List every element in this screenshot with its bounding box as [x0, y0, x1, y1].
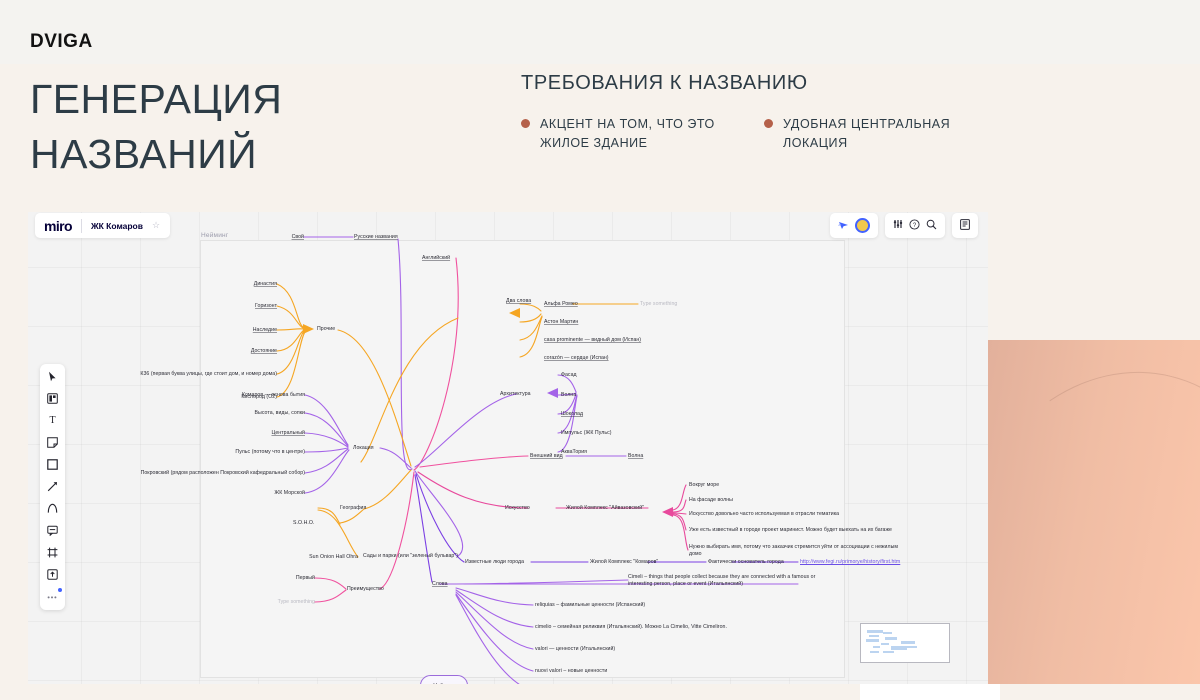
node-zhk-komarov[interactable]: Жилой Комплекс "Комаров"	[590, 559, 658, 566]
connector-tool-icon[interactable]	[44, 479, 61, 494]
node-pokrovsky[interactable]: Покровский (рядом расположен Покровский …	[141, 470, 305, 477]
filter-icon[interactable]	[893, 219, 903, 232]
node-need-name[interactable]: Нужно выбирать имя, потому что заказчик …	[689, 544, 899, 558]
node-exterior[interactable]: Внешний вид	[530, 453, 563, 460]
node-corazon[interactable]: corazón — сердце (Испан)	[544, 355, 609, 362]
select-tool-icon[interactable]	[44, 369, 61, 384]
node-horizon[interactable]: Горизонт	[255, 303, 277, 310]
node-facade-waves[interactable]: На фасаде волны	[689, 497, 733, 504]
cursor-icon[interactable]	[838, 221, 849, 230]
node-aquatoria[interactable]: АкваТория	[561, 449, 587, 456]
upload-tool-icon[interactable]	[44, 567, 61, 582]
help-icon[interactable]: ?	[909, 219, 920, 233]
pen-tool-icon[interactable]	[44, 501, 61, 516]
slide-root: DVIGA ГЕНЕРАЦИЯ НАЗВАНИЙ ТРЕБОВАНИЯ К НА…	[0, 0, 1200, 700]
miro-board-screenshot[interactable]: Нейминг	[28, 212, 988, 684]
node-k36[interactable]: К36 (первая буква улицы, где стоит дом, …	[140, 371, 277, 378]
brand-logo: DVIGA	[30, 31, 93, 53]
node-source-link[interactable]: http://www.fegi.ru/primorye/history/firs…	[800, 559, 900, 566]
node-vysota[interactable]: Высота, виды, сопки	[255, 410, 305, 417]
node-location[interactable]: Локация	[353, 445, 374, 452]
board-minimap[interactable]	[860, 623, 950, 663]
requirement-item-1: АКЦЕНТ НА ТОМ, ЧТО ЭТО ЖИЛОЕ ЗДАНИЕ	[521, 115, 736, 154]
requirements-title: ТРЕБОВАНИЯ К НАЗВАНИЮ	[521, 72, 1001, 95]
favorite-star-icon[interactable]: ☆	[152, 220, 160, 231]
node-wave[interactable]: Волна	[561, 392, 576, 399]
more-apps-tool-icon[interactable]	[44, 589, 61, 604]
node-founder[interactable]: Фактически основатель города	[708, 559, 784, 566]
node-cimeli[interactable]: Cimeli – things that people collect beca…	[628, 574, 828, 588]
node-words[interactable]: Слова	[432, 581, 448, 588]
requirements-block: ТРЕБОВАНИЯ К НАЗВАНИЮ АКЦЕНТ НА ТОМ, ЧТО…	[521, 72, 1001, 154]
node-zhk-morskoy[interactable]: ЖК Морской	[274, 490, 305, 497]
node-english[interactable]: Английский	[422, 255, 450, 262]
node-casa-prominente[interactable]: casa prominente — видный дом (Испан)	[544, 337, 641, 344]
node-sun-onion[interactable]: Sun Onion Hall Ohra	[309, 554, 358, 561]
mindmap-center-node[interactable]: Нейминг	[420, 675, 468, 684]
node-cimelio[interactable]: cimelio – семейная реликвия (Итальянский…	[535, 624, 727, 631]
node-soho[interactable]: S.O.H.O.	[293, 520, 314, 527]
page-title: ГЕНЕРАЦИЯ НАЗВАНИЙ	[30, 72, 282, 181]
node-geography[interactable]: География	[340, 505, 366, 512]
node-alfa-romeo[interactable]: Альфа Ромео	[544, 301, 578, 308]
board-title[interactable]: ЖК Комаров	[91, 221, 143, 231]
text-tool-icon[interactable]: T	[44, 413, 61, 428]
new-badge-dot	[58, 588, 62, 592]
node-around-sea[interactable]: Вокруг море	[689, 482, 719, 489]
node-known-marinist[interactable]: Уже есть известный в городе проект марин…	[689, 527, 892, 534]
requirement-item-2: УДОБНАЯ ЦЕНТРАЛЬНАЯ ЛОКАЦИЯ	[764, 115, 979, 154]
search-icon[interactable]	[926, 219, 937, 233]
node-placeholder-1[interactable]: Type something	[278, 599, 315, 606]
node-nuovi-valori[interactable]: nuovi valori – новые ценности	[535, 668, 607, 675]
miro-top-right-tools: ?	[830, 213, 978, 238]
node-reliquias[interactable]: reliquias – фамильные ценности (Испански…	[535, 602, 645, 609]
node-valori[interactable]: valori — ценности (Итальянский)	[535, 646, 615, 653]
bullet-icon	[521, 119, 530, 128]
miro-board-pill[interactable]: miro ЖК Комаров ☆	[35, 213, 170, 238]
node-two-words[interactable]: Два слова	[506, 298, 531, 305]
node-placeholder-2[interactable]: Type something	[640, 301, 677, 308]
bullet-icon	[764, 119, 773, 128]
sticky-note-tool-icon[interactable]	[44, 435, 61, 450]
user-avatar[interactable]	[855, 218, 870, 233]
utility-group: ?	[885, 213, 945, 238]
frame-tool-icon[interactable]	[44, 545, 61, 560]
node-first[interactable]: Первый	[296, 575, 315, 582]
node-impulse[interactable]: Импульс (ЖК Пульс)	[561, 430, 612, 437]
page-title-line-2: НАЗВАНИЙ	[30, 127, 282, 182]
page-title-line-1: ГЕНЕРАЦИЯ	[30, 72, 282, 127]
node-gardens[interactable]: Сады и парки (или "зеленый бульвар")	[363, 553, 458, 560]
miro-logo[interactable]: miro	[44, 218, 72, 234]
mindmap-center-label: Нейминг	[433, 683, 455, 685]
node-advantage[interactable]: Преимущество	[347, 586, 384, 593]
requirement-text-2: УДОБНАЯ ЦЕНТРАЛЬНАЯ ЛОКАЦИЯ	[783, 115, 979, 154]
mindmap-connectors	[28, 212, 988, 684]
node-dynasty[interactable]: Династия	[254, 281, 277, 288]
miro-top-bar: miro ЖК Комаров ☆ ?	[28, 212, 988, 242]
node-central[interactable]: Центральный	[271, 430, 305, 437]
node-art[interactable]: Искусство	[505, 505, 530, 512]
comment-tool-icon[interactable]	[44, 523, 61, 538]
node-chocolate[interactable]: Шоколад	[561, 411, 583, 418]
templates-tool-icon[interactable]	[44, 391, 61, 406]
node-wave-2[interactable]: Волна	[628, 453, 643, 460]
panel-group	[952, 213, 978, 238]
notes-panel-icon[interactable]	[960, 219, 970, 233]
node-heritage[interactable]: Наследие	[253, 327, 277, 334]
requirements-list: АКЦЕНТ НА ТОМ, ЧТО ЭТО ЖИЛОЕ ЗДАНИЕ УДОБ…	[521, 115, 1001, 154]
node-famous-people[interactable]: Известные люди города	[465, 559, 524, 566]
node-komarov-osnova[interactable]: Комаров — основа бытия	[242, 392, 305, 399]
node-other[interactable]: Прочие	[317, 326, 335, 333]
node-architecture[interactable]: Архитектура	[500, 391, 531, 398]
node-facade[interactable]: Фасад	[561, 372, 577, 379]
node-zhk-ayvazovsky[interactable]: Жилой Комплекс "Айвазовский"	[566, 505, 644, 512]
presence-group	[830, 213, 878, 238]
miro-left-toolbar[interactable]: T	[40, 364, 65, 610]
node-aston-martin[interactable]: Астон Мартин	[544, 319, 578, 326]
node-dostoyanie[interactable]: Достояние	[251, 348, 277, 355]
node-pulse[interactable]: Пульс (потому что в центре)	[235, 449, 305, 456]
requirement-text-1: АКЦЕНТ НА ТОМ, ЧТО ЭТО ЖИЛОЕ ЗДАНИЕ	[540, 115, 736, 154]
top-band: DVIGA	[0, 0, 1200, 64]
shape-tool-icon[interactable]	[44, 457, 61, 472]
svg-text:?: ?	[913, 223, 917, 229]
decorative-peach-panel	[987, 340, 1200, 684]
divider	[81, 219, 82, 233]
node-art-often[interactable]: Искусство довольно часто используемая в …	[689, 511, 839, 518]
